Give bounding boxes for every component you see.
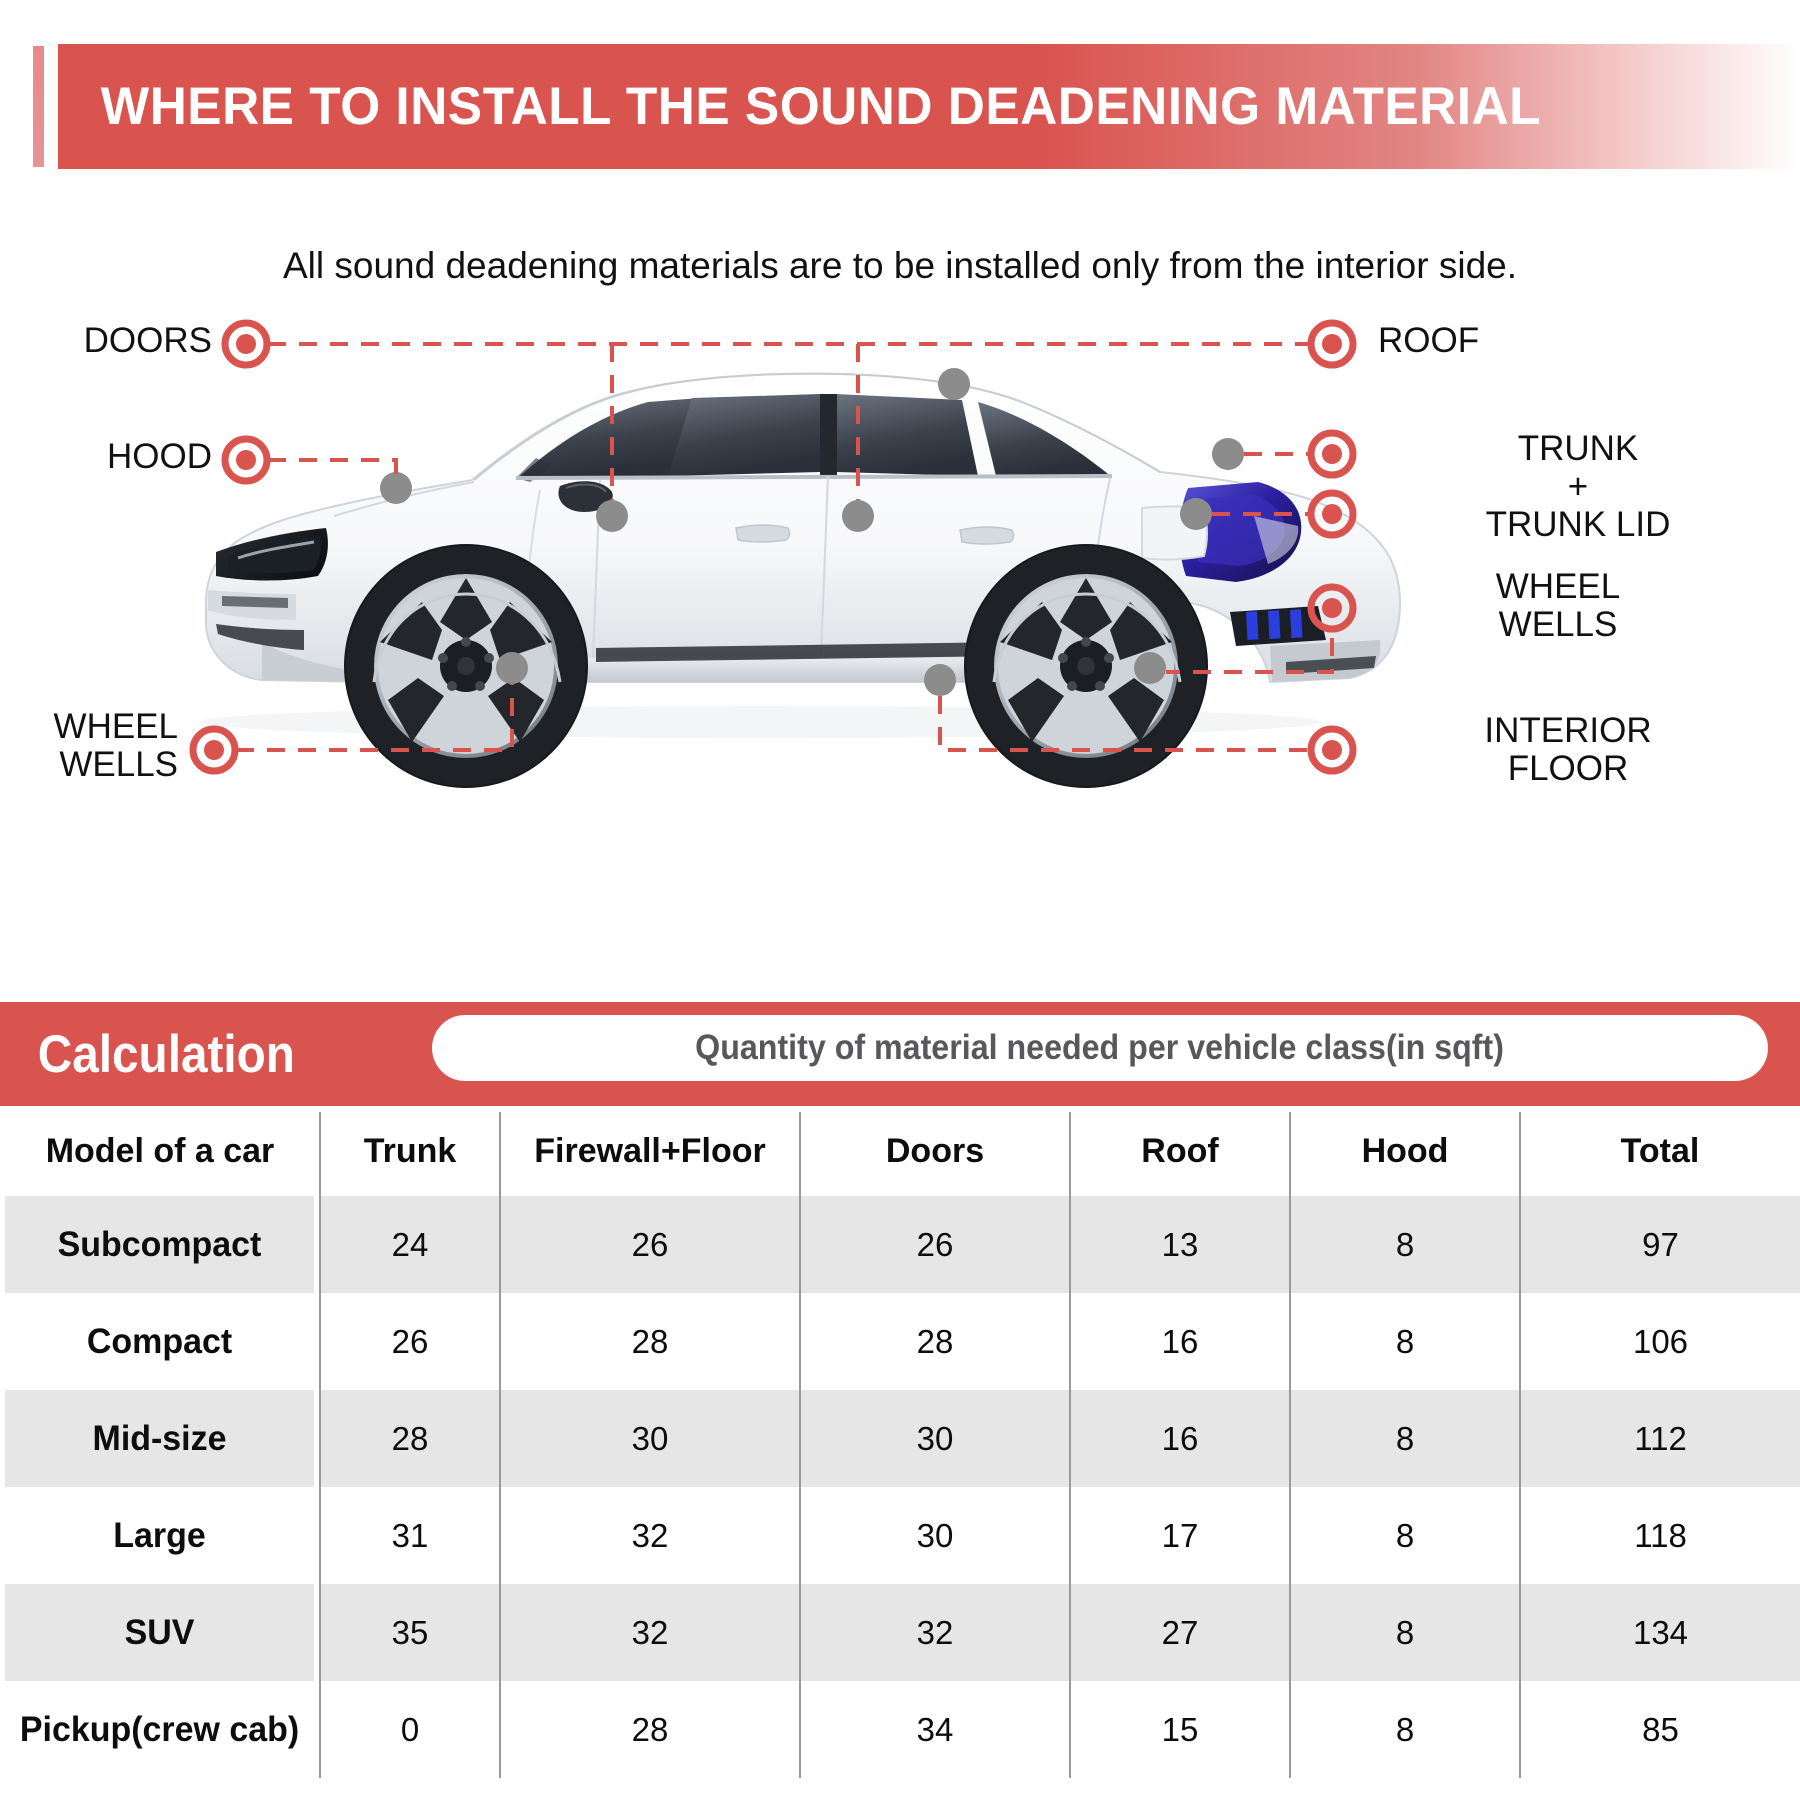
cell-total: 97 bbox=[1520, 1196, 1800, 1293]
cell-doors: 26 bbox=[800, 1196, 1070, 1293]
callout-label-wheel-wells-right: WHEEL WELLS bbox=[1368, 568, 1748, 644]
cell-doors: 28 bbox=[800, 1293, 1070, 1390]
cell-hood: 8 bbox=[1290, 1293, 1520, 1390]
cell-roof: 16 bbox=[1070, 1390, 1290, 1487]
column-header-hood: Hood bbox=[1290, 1106, 1520, 1196]
table-head: Model of a car Trunk Firewall+Floor Door… bbox=[0, 1106, 1800, 1196]
header-banner: WHERE TO INSTALL THE SOUND DEADENING MAT… bbox=[0, 44, 1800, 169]
calculation-pill-text: Quantity of material needed per vehicle … bbox=[696, 1028, 1505, 1068]
callout-label-trunk: TRUNK + TRUNK LID bbox=[1368, 430, 1788, 543]
table-row: Mid-size 28 30 30 16 8 112 bbox=[0, 1390, 1800, 1487]
anchor-hood bbox=[380, 472, 412, 504]
column-header-trunk: Trunk bbox=[320, 1106, 500, 1196]
column-header-model: Model of a car bbox=[0, 1106, 320, 1196]
marker-wheel-wells-left bbox=[193, 729, 235, 771]
cell-model: Mid-size bbox=[5, 1390, 315, 1487]
calculation-table-wrap: Model of a car Trunk Firewall+Floor Door… bbox=[0, 1106, 1800, 1800]
cell-roof: 17 bbox=[1070, 1487, 1290, 1584]
cell-trunk: 26 bbox=[320, 1293, 500, 1390]
anchor-roof bbox=[938, 368, 970, 400]
line-hood bbox=[268, 460, 396, 474]
cell-trunk: 0 bbox=[320, 1681, 500, 1778]
cell-trunk: 28 bbox=[320, 1390, 500, 1487]
table-row: SUV 35 32 32 27 8 134 bbox=[0, 1584, 1800, 1681]
cell-model: Large bbox=[5, 1487, 315, 1584]
callout-label-hood: HOOD bbox=[107, 438, 212, 476]
anchor-wheel-wells-rear bbox=[1134, 652, 1166, 684]
cell-model: SUV bbox=[5, 1584, 315, 1681]
column-header-doors: Doors bbox=[800, 1106, 1070, 1196]
table-row: Pickup(crew cab) 0 28 34 15 8 85 bbox=[0, 1681, 1800, 1778]
anchor-doors-rear bbox=[842, 500, 874, 532]
cell-roof: 13 bbox=[1070, 1196, 1290, 1293]
cell-firewall-floor: 30 bbox=[500, 1390, 800, 1487]
calculation-table: Model of a car Trunk Firewall+Floor Door… bbox=[0, 1106, 1800, 1778]
cell-doors: 32 bbox=[800, 1584, 1070, 1681]
cell-total: 134 bbox=[1520, 1584, 1800, 1681]
calculation-pill: Quantity of material needed per vehicle … bbox=[432, 1015, 1768, 1081]
cell-doors: 30 bbox=[800, 1487, 1070, 1584]
cell-trunk: 24 bbox=[320, 1196, 500, 1293]
table-row: Large 31 32 30 17 8 118 bbox=[0, 1487, 1800, 1584]
anchor-interior-floor bbox=[924, 664, 956, 696]
cell-hood: 8 bbox=[1290, 1584, 1520, 1681]
callout-label-interior-floor: INTERIOR FLOOR bbox=[1368, 712, 1768, 788]
callout-label-doors: DOORS bbox=[84, 322, 212, 360]
calculation-band: Calculation Quantity of material needed … bbox=[0, 1002, 1800, 1106]
column-header-firewall-floor: Firewall+Floor bbox=[500, 1106, 800, 1196]
callout-line-1: WHEEL bbox=[1368, 568, 1748, 606]
cell-hood: 8 bbox=[1290, 1196, 1520, 1293]
callout-line-1: INTERIOR bbox=[1368, 712, 1768, 750]
callout-line-2: FLOOR bbox=[1368, 750, 1768, 788]
callout-line-2: WELLS bbox=[54, 746, 178, 784]
column-header-roof: Roof bbox=[1070, 1106, 1290, 1196]
callout-label-roof: ROOF bbox=[1378, 322, 1479, 360]
marker-interior-floor bbox=[1311, 729, 1353, 771]
callout-label-wheel-wells-left: WHEEL WELLS bbox=[54, 708, 178, 784]
marker-hood bbox=[225, 439, 267, 481]
cell-total: 112 bbox=[1520, 1390, 1800, 1487]
callout-line-3: TRUNK LID bbox=[1368, 506, 1788, 544]
cell-total: 106 bbox=[1520, 1293, 1800, 1390]
anchor-trunk bbox=[1212, 438, 1244, 470]
cell-total: 118 bbox=[1520, 1487, 1800, 1584]
cell-trunk: 31 bbox=[320, 1487, 500, 1584]
cell-model: Compact bbox=[5, 1293, 315, 1390]
callout-line-1: WHEEL bbox=[54, 708, 178, 746]
vehicle-diagram: DOORS HOOD WHEEL WELLS ROOF TRUNK + TRUN… bbox=[0, 290, 1800, 990]
anchor-wheel-wells-front bbox=[496, 652, 528, 684]
header-bar: WHERE TO INSTALL THE SOUND DEADENING MAT… bbox=[58, 44, 1800, 169]
cell-firewall-floor: 32 bbox=[500, 1584, 800, 1681]
callout-line-2: + bbox=[1368, 468, 1788, 506]
anchor-trunk-lid bbox=[1180, 498, 1212, 530]
header-accent-bar bbox=[33, 46, 44, 167]
table-header-row: Model of a car Trunk Firewall+Floor Door… bbox=[0, 1106, 1800, 1196]
cell-hood: 8 bbox=[1290, 1487, 1520, 1584]
cell-firewall-floor: 32 bbox=[500, 1487, 800, 1584]
table-row: Compact 26 28 28 16 8 106 bbox=[0, 1293, 1800, 1390]
table-row: Subcompact 24 26 26 13 8 97 bbox=[0, 1196, 1800, 1293]
cell-model: Subcompact bbox=[5, 1196, 315, 1293]
cell-hood: 8 bbox=[1290, 1390, 1520, 1487]
subtitle-text: All sound deadening materials are to be … bbox=[0, 245, 1800, 287]
cell-trunk: 35 bbox=[320, 1584, 500, 1681]
cell-roof: 16 bbox=[1070, 1293, 1290, 1390]
cell-model: Pickup(crew cab) bbox=[5, 1681, 315, 1778]
cell-doors: 30 bbox=[800, 1390, 1070, 1487]
car-illustration bbox=[200, 374, 1400, 788]
cell-total: 85 bbox=[1520, 1681, 1800, 1778]
callout-line-2: WELLS bbox=[1368, 606, 1748, 644]
table-body: Subcompact 24 26 26 13 8 97 Compact 26 2… bbox=[0, 1196, 1800, 1778]
column-header-total: Total bbox=[1520, 1106, 1800, 1196]
cell-hood: 8 bbox=[1290, 1681, 1520, 1778]
cell-doors: 34 bbox=[800, 1681, 1070, 1778]
calculation-title: Calculation bbox=[0, 1024, 295, 1085]
anchor-doors-front bbox=[596, 500, 628, 532]
cell-roof: 27 bbox=[1070, 1584, 1290, 1681]
marker-doors bbox=[225, 323, 267, 365]
cell-firewall-floor: 26 bbox=[500, 1196, 800, 1293]
cell-roof: 15 bbox=[1070, 1681, 1290, 1778]
page-title: WHERE TO INSTALL THE SOUND DEADENING MAT… bbox=[58, 76, 1541, 137]
cell-firewall-floor: 28 bbox=[500, 1293, 800, 1390]
marker-roof bbox=[1311, 323, 1353, 365]
cell-firewall-floor: 28 bbox=[500, 1681, 800, 1778]
callout-line-1: TRUNK bbox=[1368, 430, 1788, 468]
marker-trunk bbox=[1311, 433, 1353, 475]
